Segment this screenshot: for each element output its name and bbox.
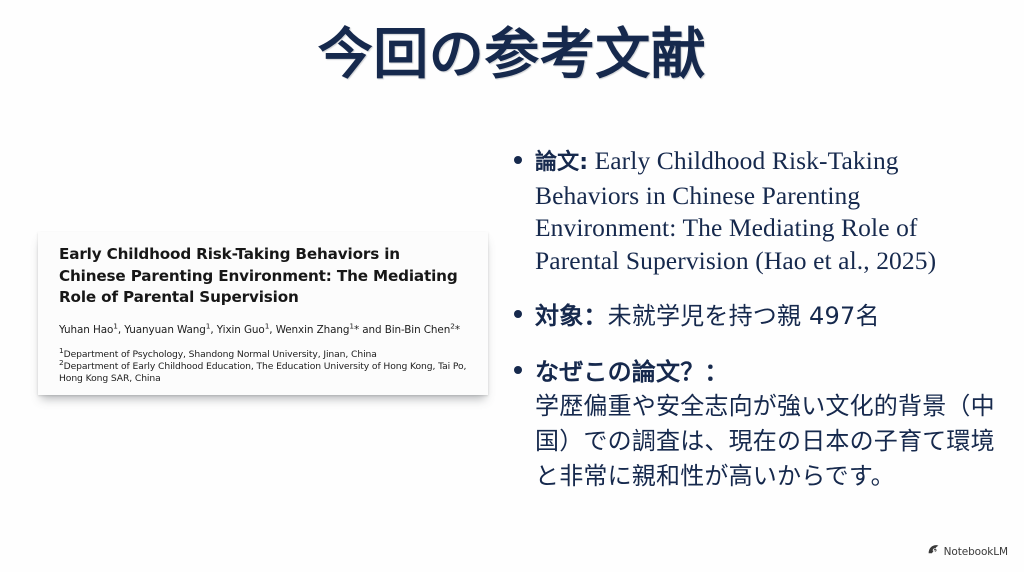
author-name-3: Yixin Guo [217, 324, 265, 336]
notebooklm-watermark: NotebookLM [927, 543, 1008, 561]
notebooklm-label: NotebookLM [944, 546, 1008, 558]
bullet-paper-label: 論文: [535, 150, 588, 175]
bullet-list: 論文: Early Childhood Risk-Taking Behavior… [508, 145, 1008, 494]
bullet-paper-text: Early Childhood Risk-Taking Behaviors in… [535, 146, 936, 275]
bullet-item-why: なぜこの論文？： 学歴偏重や安全志向が強い文化的背景（中国）での調査は、現在の日… [508, 355, 1008, 494]
author-name-1: Yuhan Hao [59, 324, 113, 336]
affiliation-text-1: Department of Psychology, Shandong Norma… [64, 349, 377, 360]
author-name-5: Bin-Bin Chen [385, 324, 451, 336]
author-name-2: Yuanyuan Wang [124, 324, 206, 336]
paper-card-content: Early Childhood Risk-Taking Behaviors in… [38, 232, 488, 386]
author-name-4: Wenxin Zhang [276, 324, 350, 336]
paper-authors: Yuhan Hao1, Yuanyuan Wang1, Yixin Guo1, … [59, 323, 470, 337]
bullet-why-text: 学歴偏重や安全志向が強い文化的背景（中国）での調査は、現在の日本の子育て環境と非… [535, 389, 1008, 494]
paper-title: Early Childhood Risk-Taking Behaviors in… [59, 244, 470, 309]
bullet-item-paper: 論文: Early Childhood Risk-Taking Behavior… [508, 145, 1008, 277]
bullet-subjects-text: 未就学児を持つ親 497名 [608, 302, 880, 330]
affiliation-line-2: 2Department of Early Childhood Education… [59, 361, 470, 386]
bullet-dot-icon [514, 310, 522, 318]
author-star-4: * and [354, 324, 385, 336]
notebooklm-icon [927, 543, 940, 561]
bullet-why-label: なぜこの論文？： [535, 355, 1008, 389]
bullet-dot-icon [514, 156, 522, 164]
paper-affiliations: 1Department of Psychology, Shandong Norm… [59, 349, 470, 386]
slide-root: 今回の参考文献 Early Childhood Risk-Taking Beha… [0, 0, 1024, 572]
affiliation-text-2: Department of Early Childhood Education,… [59, 361, 466, 384]
bullet-item-subjects: 対象：未就学児を持つ親 497名 [508, 299, 1008, 333]
page-title: 今回の参考文献 [0, 22, 1024, 86]
paper-screenshot-card: Early Childhood Risk-Taking Behaviors in… [38, 232, 488, 395]
bullet-dot-icon [514, 366, 522, 374]
bullet-subjects-label: 対象： [535, 302, 608, 330]
author-star-5: * [455, 324, 460, 336]
affiliation-line-1: 1Department of Psychology, Shandong Norm… [59, 349, 470, 361]
